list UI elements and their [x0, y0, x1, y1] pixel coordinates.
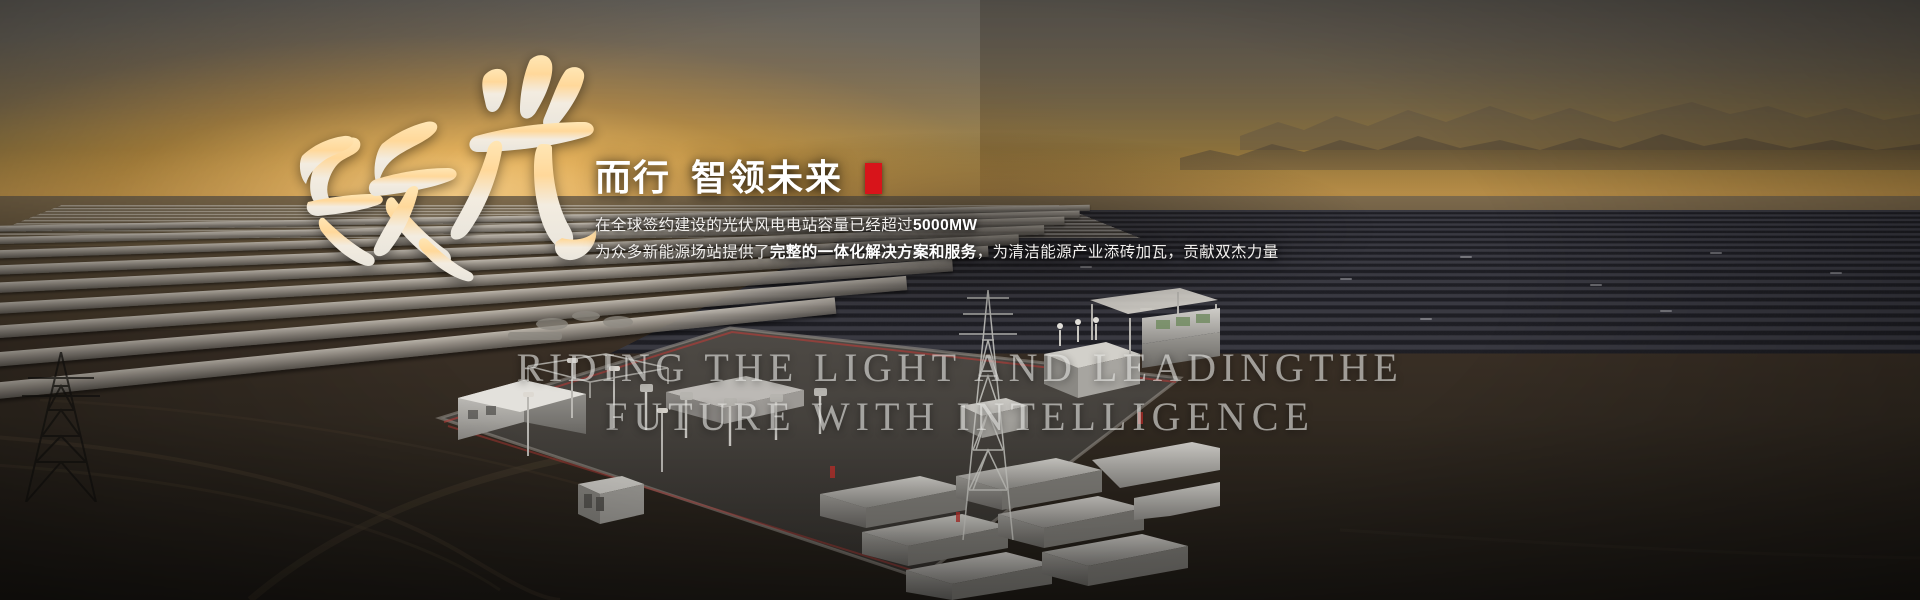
hero-banner: 而行 智领未来 在全球签约建设的光伏风电电站容量已经超过5000MW 为众多新能…: [0, 0, 1920, 600]
subtitle-line-2: 为众多新能源场站提供了完整的一体化解决方案和服务，为清洁能源产业添砖加瓦，贡献双…: [595, 240, 1355, 265]
headline-copy-block: 而行 智领未来 在全球签约建设的光伏风电电站容量已经超过5000MW 为众多新能…: [595, 160, 1355, 265]
subtitle-line-2-lead: 为众多新能源场站提供了: [595, 244, 770, 261]
subtitle-capacity-value: 5000MW: [913, 217, 977, 234]
substation-facility: [400, 270, 1220, 600]
headline-part1: 而行: [595, 160, 671, 196]
red-accent-block: [865, 163, 882, 194]
subtitle-line-2-tail: ，为清洁能源产业添砖加瓦，贡献双杰力量: [977, 244, 1279, 261]
subtitle-line-1-text: 在全球签约建设的光伏风电电站容量已经超过: [595, 217, 913, 234]
subtitle-line-2-emphasis: 完整的一体化解决方案和服务: [770, 244, 977, 261]
headline: 而行 智领未来: [595, 160, 1355, 196]
headline-part2: 智领未来: [691, 160, 843, 196]
transmission-tower-center: [955, 290, 1021, 540]
subtitle-line-1: 在全球签约建设的光伏风电电站容量已经超过5000MW: [595, 213, 1355, 238]
transmission-tower-left: [6, 352, 116, 502]
